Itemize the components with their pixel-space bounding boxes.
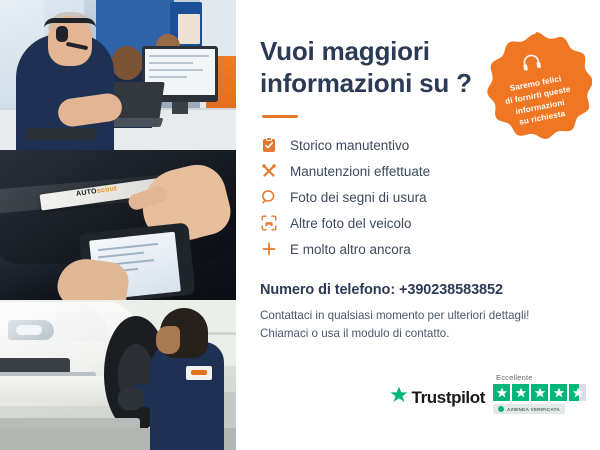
trustpilot-star-filled: [531, 384, 548, 401]
call-center-photo: [0, 0, 236, 150]
trustpilot-logo[interactable]: Trustpilot: [390, 373, 485, 409]
phone-number-line[interactable]: Numero di telefono: +390238583852: [260, 282, 578, 298]
headset-earcup: [56, 26, 68, 42]
feature-item-foto-segni-usura[interactable]: Foto dei segni di usura: [260, 184, 578, 210]
screen-line: [149, 76, 187, 78]
front-bumper: [0, 376, 110, 402]
trustpilot-stars: [493, 384, 586, 401]
content-panel: Vuoi maggiori informazioni su ? Storico …: [236, 0, 600, 450]
page-title: Vuoi maggiori informazioni su ?: [260, 36, 475, 99]
trustpilot-star-filled: [550, 384, 567, 401]
screen-line: [149, 69, 203, 71]
uniform-logo-patch: [186, 366, 212, 380]
promo-panel: AUTOscout: [0, 0, 600, 450]
screen-line: [149, 62, 193, 64]
trustpilot-wordmark: Trustpilot: [412, 388, 485, 408]
wall-poster-image: [178, 14, 200, 44]
phone-label: Numero di telefono:: [260, 282, 395, 298]
photo-column: AUTOscout: [0, 0, 236, 450]
feature-label: Altre foto del veicolo: [290, 216, 412, 231]
page-title-line-1: Vuoi maggiori: [260, 36, 430, 66]
trustpilot-rating-word: Eccellente: [496, 373, 533, 382]
monitor-stand: [172, 102, 188, 114]
feature-item-molto-altro[interactable]: E molto altro ancora: [260, 236, 578, 262]
trustpilot-star-icon: [390, 386, 408, 409]
phone-number[interactable]: +390238583852: [399, 282, 503, 298]
headlight-lens: [16, 325, 42, 335]
trustpilot-star-partial: [569, 384, 586, 401]
callout-badge: Saremo felici di fornirti queste informa…: [480, 30, 592, 142]
trustpilot-star-filled: [493, 384, 510, 401]
screen-line: [149, 55, 209, 57]
feature-label: Manutenzioni effettuate: [290, 164, 430, 179]
contact-description-line-1: Contattaci in qualsiasi momento per ulte…: [260, 307, 578, 325]
magnifier-icon: [260, 189, 277, 205]
trustpilot-rating: Eccellente: [493, 373, 586, 414]
keyboard: [24, 128, 97, 140]
workshop-photo: [0, 300, 236, 450]
check-circle-icon: [498, 406, 504, 412]
headset-icon: [520, 52, 544, 78]
trustpilot-star-filled: [512, 384, 529, 401]
verified-business-badge: AZIENDA VERIFICATA: [493, 404, 565, 414]
verified-business-label: AZIENDA VERIFICATA: [507, 407, 560, 412]
mechanic-face: [156, 326, 180, 354]
contact-description-line-2: Chiamaci o usa il modulo di contatto.: [260, 325, 578, 343]
feature-label: E molto altro ancora: [290, 242, 411, 257]
feature-list: Storico manutentivo Manutenzioni effettu…: [260, 132, 578, 262]
car-inspection-photo: AUTOscout: [0, 150, 236, 300]
plus-icon: [260, 241, 277, 257]
feature-item-manutenzioni-effettuate[interactable]: Manutenzioni effettuate: [260, 158, 578, 184]
contact-description: Contattaci in qualsiasi momento per ulte…: [260, 307, 578, 343]
badge-text: Saremo felici di fornirti queste informa…: [502, 72, 576, 130]
headset-band: [44, 18, 96, 28]
feature-label: Storico manutentivo: [290, 138, 409, 153]
mechanic-glove: [118, 388, 144, 410]
trustpilot-widget[interactable]: Trustpilot Eccellente: [390, 373, 586, 414]
feature-item-altre-foto-veicolo[interactable]: Altre foto del veicolo: [260, 210, 578, 236]
title-divider: [262, 115, 298, 118]
page-title-line-2: informazioni su ?: [260, 68, 472, 98]
badge-content: Saremo felici di fornirti queste informa…: [470, 20, 600, 151]
car-scan-icon: [260, 215, 277, 231]
background-worker-1-head: [112, 46, 142, 80]
feature-label: Foto dei segni di usura: [290, 190, 427, 205]
clipboard-check-icon: [260, 137, 277, 153]
tools-cross-icon: [260, 163, 277, 179]
